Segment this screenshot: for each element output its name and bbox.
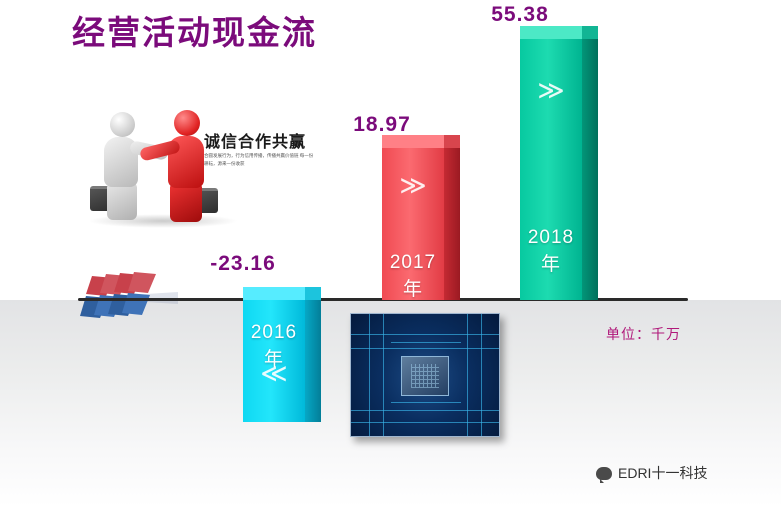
bar-2016-top [243, 287, 305, 300]
bar-2017[interactable]: ≫ 2017年 [382, 148, 444, 300]
bar-2018-top [520, 26, 582, 39]
bar-2018-label: 2018年 [520, 227, 582, 276]
wechat-icon [596, 467, 612, 480]
footer-watermark: EDRI十一科技 [596, 463, 707, 483]
grey-figure-head [110, 112, 135, 137]
bar-2017-side [444, 148, 460, 300]
bar-2018[interactable]: ≫ 2018年 [520, 39, 582, 300]
bar-2018-top-right [582, 26, 598, 39]
chevron-up-icon: ≫ [520, 83, 582, 97]
unit-note: 单位：千万 [606, 324, 681, 344]
bar-2018-value: 55.38 [450, 3, 590, 27]
red-figure-head [174, 110, 200, 136]
bar-2016-top-right [305, 287, 321, 300]
circuit-board-image [350, 313, 500, 437]
red-figure-legs [170, 182, 202, 222]
cpu-chip-icon [401, 356, 449, 396]
chevron-up-icon: ≫ [382, 178, 444, 192]
grey-figure-legs [107, 182, 137, 220]
bar-2017-value: 18.97 [312, 113, 452, 137]
bar-2016-value: -23.16 [173, 252, 313, 276]
bar-2016-side [305, 300, 321, 422]
bar-2016[interactable]: 2016年 ≪ [243, 300, 305, 422]
chevron-down-icon: ≪ [243, 366, 305, 380]
illustration-subtext: 合圆发展行为，行为信用传播，传播共赢价值链 每一份耕耘，源来一份收获 [204, 152, 314, 168]
page-title: 经营活动现金流 [72, 6, 317, 54]
handshake-illustration: 诚信合作共赢 合圆发展行为，行为信用传播，传播共赢价值链 每一份耕耘，源来一份收… [82, 104, 322, 230]
bar-2017-label: 2017年 [382, 252, 444, 301]
footer-text: EDRI十一科技 [618, 463, 707, 483]
bar-2018-side [582, 39, 598, 300]
illustration-slogan: 诚信合作共赢 [204, 128, 306, 152]
